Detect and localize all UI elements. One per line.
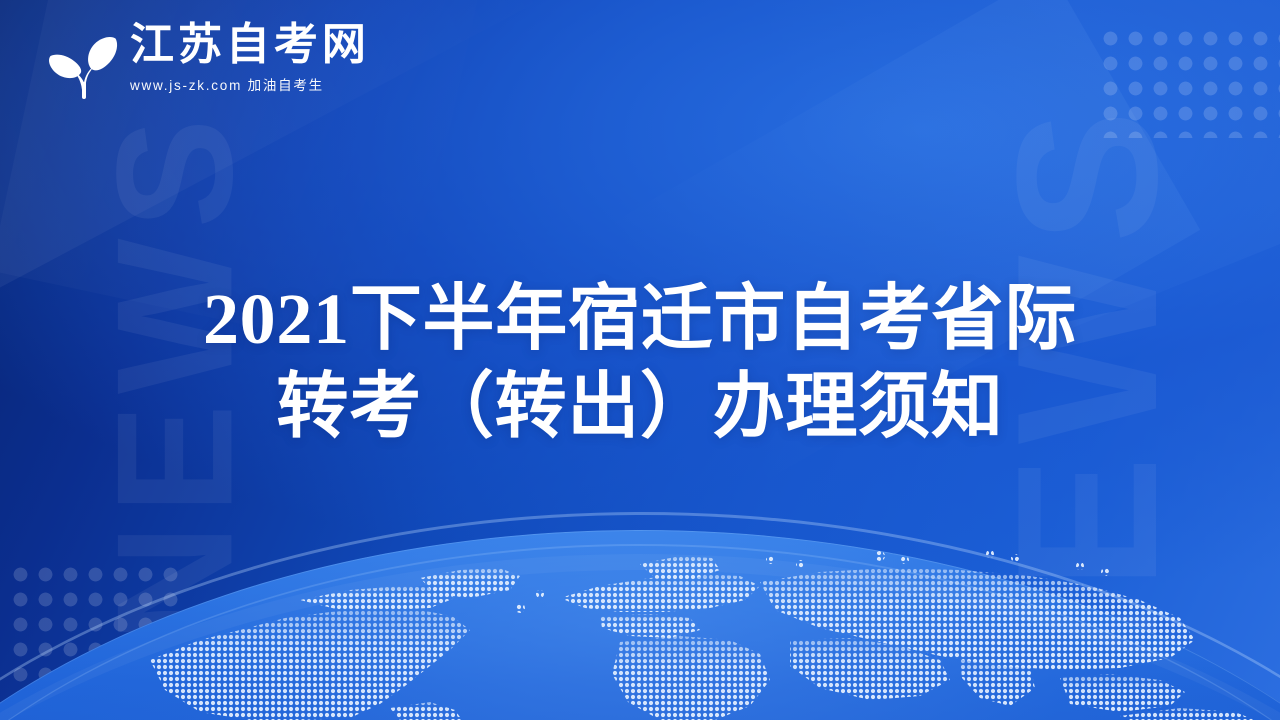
page-title: 2021下半年宿迁市自考省际转考（转出）办理须知 [0,276,1280,452]
logo-text-block: 江苏自考网 www.js-zk.com 加油自考生 [130,22,370,94]
brand-tagline: www.js-zk.com 加油自考生 [130,74,370,94]
banner-canvas: NEWS NEWS [0,0,1280,720]
site-logo[interactable]: 江苏自考网 www.js-zk.com 加油自考生 [36,22,370,106]
brand-name: 江苏自考网 [130,22,370,68]
sprout-leaf-icon [36,24,122,106]
